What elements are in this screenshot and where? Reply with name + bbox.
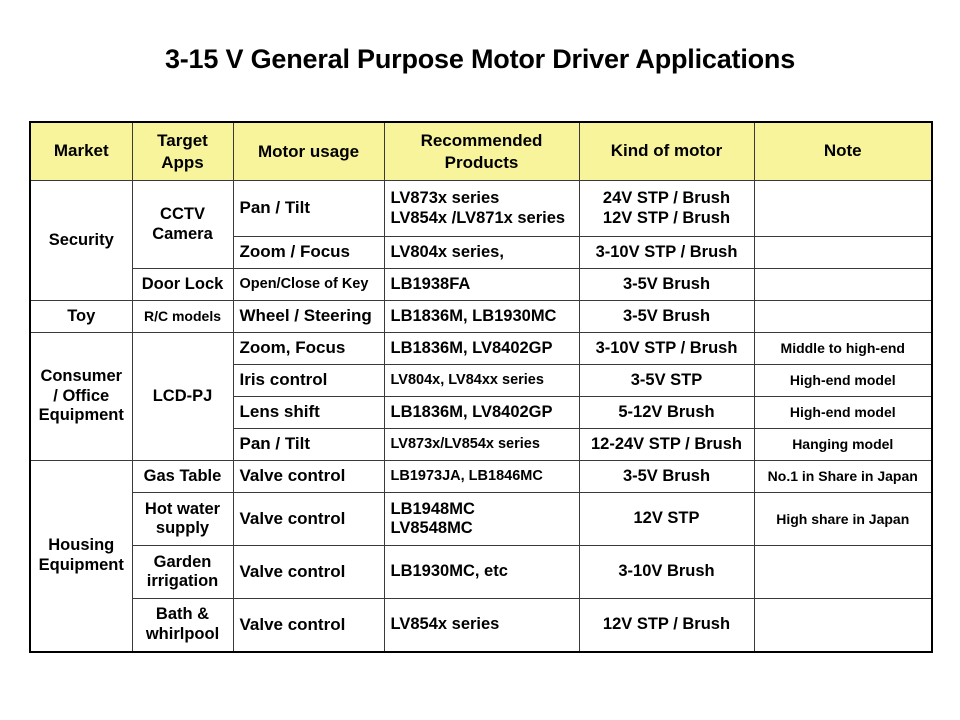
column-header-recommended-products-line1: Recommended	[421, 131, 543, 150]
cell-apps-cctv-camera-line1: CCTV	[139, 205, 227, 224]
cell-apps-lcd-pj: LCD-PJ	[132, 333, 233, 461]
cell-kind-door-lock: 3-5V Brush	[579, 269, 754, 301]
cell-note-bath	[754, 599, 932, 652]
column-header-market: Market	[30, 122, 132, 181]
cell-kind-pj-zoom-focus: 3-10V STP / Brush	[579, 333, 754, 365]
column-header-target-apps-line1: Target	[157, 131, 208, 150]
cell-kind-gas-table: 3-5V Brush	[579, 461, 754, 493]
cell-note-pj-pan-tilt: Hanging model	[754, 429, 932, 461]
cell-apps-cctv-camera: CCTV Camera	[132, 181, 233, 269]
cell-market-consumer-office-equipment: Consumer / Office Equipment	[30, 333, 132, 461]
cell-apps-rc-models: R/C models	[132, 301, 233, 333]
cell-product-pj-iris: LV804x, LV84xx series	[384, 365, 579, 397]
cell-note-pj-lens-shift: High-end model	[754, 397, 932, 429]
column-header-motor-usage: Motor usage	[233, 122, 384, 181]
cell-usage-valve-control-hot-water: Valve control	[233, 493, 384, 546]
cell-market-housing-line2: Equipment	[37, 556, 126, 575]
table-header-row: Market Target Apps Motor usage Recommend…	[30, 122, 932, 181]
cell-product-toy: LB1836M, LB1930MC	[384, 301, 579, 333]
column-header-recommended-products: Recommended Products	[384, 122, 579, 181]
cell-kind-pj-lens-shift: 5-12V Brush	[579, 397, 754, 429]
cell-usage-open-close-of-key: Open/Close of Key	[233, 269, 384, 301]
slide-canvas: 3-15 V General Purpose Motor Driver Appl…	[0, 0, 960, 720]
cell-market-consumer-line3: Equipment	[37, 406, 126, 425]
cell-market-housing-equipment: Housing Equipment	[30, 461, 132, 652]
cell-apps-door-lock: Door Lock	[132, 269, 233, 301]
cell-product-pj-zoom-focus: LB1836M, LV8402GP	[384, 333, 579, 365]
table-row: Security CCTV Camera Pan / Tilt LV873x s…	[30, 181, 932, 237]
cell-usage-valve-control-bath: Valve control	[233, 599, 384, 652]
table-body: Security CCTV Camera Pan / Tilt LV873x s…	[30, 181, 932, 652]
column-header-kind-of-motor: Kind of motor	[579, 122, 754, 181]
table-row: Toy R/C models Wheel / Steering LB1836M,…	[30, 301, 932, 333]
table-row: Bath & whirlpool Valve control LV854x se…	[30, 599, 932, 652]
table-row: Housing Equipment Gas Table Valve contro…	[30, 461, 932, 493]
cell-product-garden: LB1930MC, etc	[384, 546, 579, 599]
cell-apps-bath-whirlpool: Bath & whirlpool	[132, 599, 233, 652]
cell-kind-cctv-zoom-focus: 3-10V STP / Brush	[579, 237, 754, 269]
cell-apps-garden-irrigation: Garden irrigation	[132, 546, 233, 599]
cell-note-pj-zoom-focus: Middle to high-end	[754, 333, 932, 365]
cell-product-cctv-pan-tilt-line1: LV873x series	[391, 189, 573, 208]
cell-kind-pj-pan-tilt: 12-24V STP / Brush	[579, 429, 754, 461]
applications-table: Market Target Apps Motor usage Recommend…	[29, 121, 933, 653]
column-header-note: Note	[754, 122, 932, 181]
cell-kind-cctv-pan-tilt-line2: 12V STP / Brush	[586, 209, 748, 228]
cell-product-bath: LV854x series	[384, 599, 579, 652]
table-row: Consumer / Office Equipment LCD-PJ Zoom,…	[30, 333, 932, 365]
cell-apps-hot-water-supply: Hot water supply	[132, 493, 233, 546]
cell-kind-toy: 3-5V Brush	[579, 301, 754, 333]
cell-note-toy	[754, 301, 932, 333]
cell-note-door-lock	[754, 269, 932, 301]
cell-apps-garden-irrigation-line2: irrigation	[139, 572, 227, 591]
table-row: Door Lock Open/Close of Key LB1938FA 3-5…	[30, 269, 932, 301]
cell-market-toy: Toy	[30, 301, 132, 333]
cell-market-consumer-line2: / Office	[37, 387, 126, 406]
cell-market-housing-line1: Housing	[37, 536, 126, 555]
cell-usage-pan-tilt: Pan / Tilt	[233, 181, 384, 237]
cell-kind-bath: 12V STP / Brush	[579, 599, 754, 652]
table-row: Garden irrigation Valve control LB1930MC…	[30, 546, 932, 599]
cell-note-garden	[754, 546, 932, 599]
table-row: Hot water supply Valve control LB1948MC …	[30, 493, 932, 546]
cell-note-cctv-zoom-focus	[754, 237, 932, 269]
cell-product-pj-pan-tilt: LV873x/LV854x series	[384, 429, 579, 461]
cell-apps-cctv-camera-line2: Camera	[139, 225, 227, 244]
column-header-target-apps-line2: Apps	[161, 153, 204, 172]
cell-kind-cctv-pan-tilt: 24V STP / Brush 12V STP / Brush	[579, 181, 754, 237]
cell-kind-cctv-pan-tilt-line1: 24V STP / Brush	[586, 189, 748, 208]
column-header-recommended-products-line2: Products	[445, 153, 519, 172]
cell-usage-lens-shift: Lens shift	[233, 397, 384, 429]
cell-apps-bath-whirlpool-line1: Bath &	[139, 605, 227, 624]
cell-usage-valve-control-gas: Valve control	[233, 461, 384, 493]
column-header-motor-usage-line2: usage	[310, 142, 359, 161]
cell-product-door-lock: LB1938FA	[384, 269, 579, 301]
cell-note-cctv-pan-tilt	[754, 181, 932, 237]
cell-product-hot-water: LB1948MC LV8548MC	[384, 493, 579, 546]
cell-usage-pan-tilt-pj: Pan / Tilt	[233, 429, 384, 461]
cell-usage-iris-control: Iris control	[233, 365, 384, 397]
applications-table-container: Market Target Apps Motor usage Recommend…	[29, 121, 931, 653]
cell-apps-gas-table: Gas Table	[132, 461, 233, 493]
page-title: 3-15 V General Purpose Motor Driver Appl…	[0, 44, 960, 75]
cell-kind-pj-iris: 3-5V STP	[579, 365, 754, 397]
column-header-target-apps: Target Apps	[132, 122, 233, 181]
cell-product-cctv-pan-tilt-line2: LV854x /LV871x series	[391, 209, 573, 228]
cell-usage-zoom-focus-pj: Zoom, Focus	[233, 333, 384, 365]
cell-product-cctv-pan-tilt: LV873x series LV854x /LV871x series	[384, 181, 579, 237]
cell-kind-garden: 3-10V Brush	[579, 546, 754, 599]
column-header-motor-usage-line1: Motor	[258, 142, 305, 161]
cell-product-hot-water-line2: LV8548MC	[391, 519, 573, 538]
cell-note-hot-water: High share in Japan	[754, 493, 932, 546]
cell-note-gas-table: No.1 in Share in Japan	[754, 461, 932, 493]
cell-kind-hot-water: 12V STP	[579, 493, 754, 546]
cell-market-consumer-line1: Consumer	[37, 367, 126, 386]
cell-apps-hot-water-supply-line2: supply	[139, 519, 227, 538]
cell-apps-hot-water-supply-line1: Hot water	[139, 500, 227, 519]
cell-usage-valve-control-garden: Valve control	[233, 546, 384, 599]
cell-product-gas-table: LB1973JA, LB1846MC	[384, 461, 579, 493]
table-header: Market Target Apps Motor usage Recommend…	[30, 122, 932, 181]
cell-usage-zoom-focus: Zoom / Focus	[233, 237, 384, 269]
cell-product-hot-water-line1: LB1948MC	[391, 500, 573, 519]
cell-apps-garden-irrigation-line1: Garden	[139, 553, 227, 572]
cell-product-cctv-zoom-focus: LV804x series,	[384, 237, 579, 269]
cell-note-pj-iris: High-end model	[754, 365, 932, 397]
cell-product-pj-lens-shift: LB1836M, LV8402GP	[384, 397, 579, 429]
cell-market-security: Security	[30, 181, 132, 301]
cell-apps-bath-whirlpool-line2: whirlpool	[139, 625, 227, 644]
cell-usage-wheel-steering: Wheel / Steering	[233, 301, 384, 333]
